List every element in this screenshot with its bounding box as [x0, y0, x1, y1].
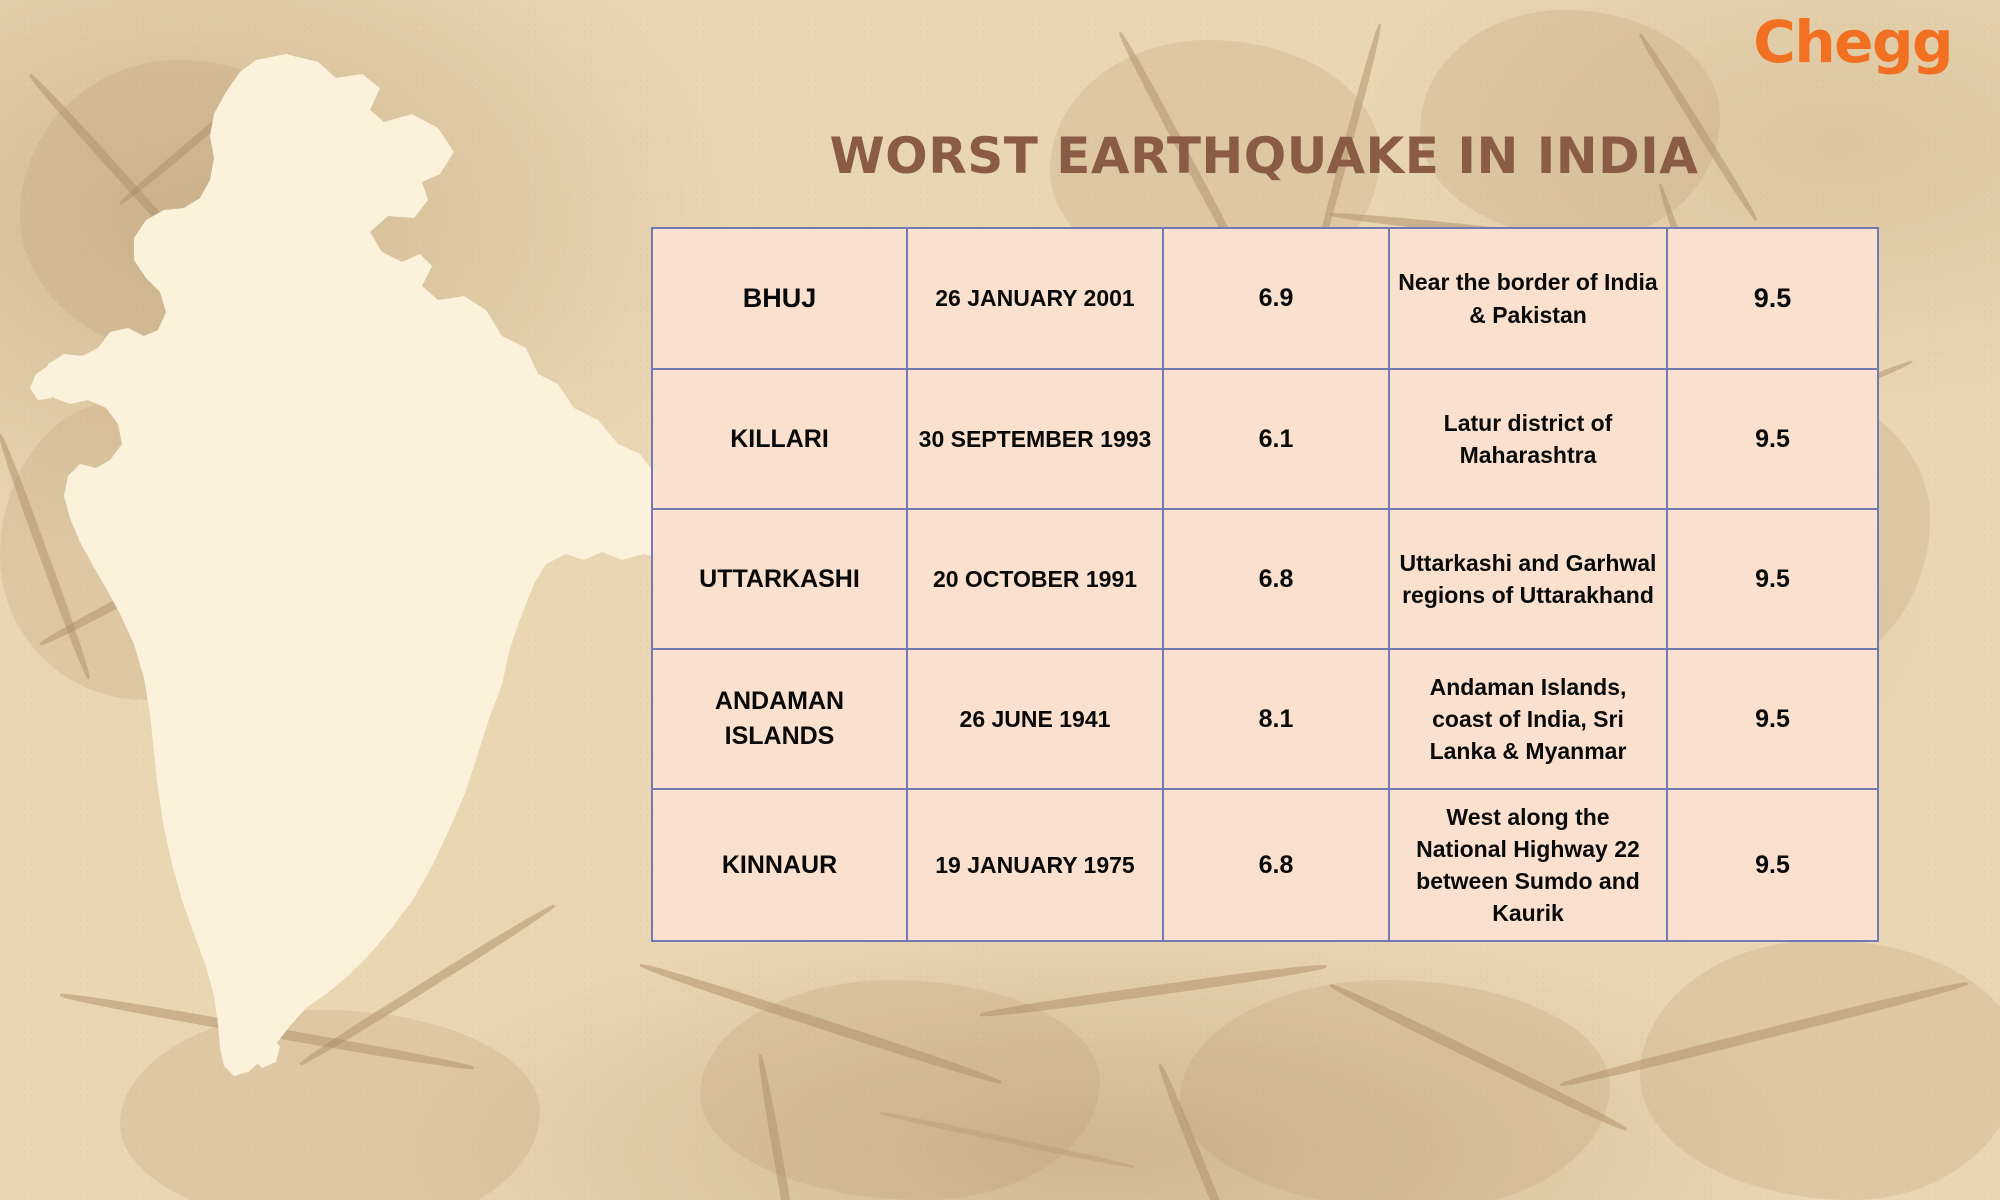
cell-place: KINNAUR: [652, 789, 907, 941]
earthquake-table-body: BHUJ 26 JANUARY 2001 6.9 Near the border…: [652, 228, 1878, 941]
cell-intensity: 9.5: [1667, 509, 1878, 649]
table-row: ANDAMAN ISLANDS 26 JUNE 1941 8.1 Andaman…: [652, 649, 1878, 789]
cell-date: 26 JANUARY 2001: [907, 228, 1163, 369]
cell-area: Uttarkashi and Garhwal regions of Uttara…: [1389, 509, 1667, 649]
cell-place: KILLARI: [652, 369, 907, 509]
cell-magnitude: 6.9: [1163, 228, 1389, 369]
cell-date: 20 OCTOBER 1991: [907, 509, 1163, 649]
cell-area: Andaman Islands, coast of India, Sri Lan…: [1389, 649, 1667, 789]
page-title: WORST EARTHQUAKE IN INDIA: [651, 127, 1877, 185]
chegg-logo[interactable]: Chegg: [1753, 8, 1952, 76]
table-row: KINNAUR 19 JANUARY 1975 6.8 West along t…: [652, 789, 1878, 941]
cell-magnitude: 6.8: [1163, 509, 1389, 649]
cell-date: 30 SEPTEMBER 1993: [907, 369, 1163, 509]
cell-intensity: 9.5: [1667, 228, 1878, 369]
cell-area: Near the border of India & Pakistan: [1389, 228, 1667, 369]
cell-place: UTTARKASHI: [652, 509, 907, 649]
table-row: KILLARI 30 SEPTEMBER 1993 6.1 Latur dist…: [652, 369, 1878, 509]
cell-magnitude: 6.8: [1163, 789, 1389, 941]
table-row: UTTARKASHI 20 OCTOBER 1991 6.8 Uttarkash…: [652, 509, 1878, 649]
cell-place: BHUJ: [652, 228, 907, 369]
cell-intensity: 9.5: [1667, 789, 1878, 941]
india-map-silhouette: [18, 48, 698, 1083]
cell-area: West along the National Highway 22 betwe…: [1389, 789, 1667, 941]
cell-magnitude: 8.1: [1163, 649, 1389, 789]
cell-area: Latur district of Maharashtra: [1389, 369, 1667, 509]
cell-date: 26 JUNE 1941: [907, 649, 1163, 789]
cell-intensity: 9.5: [1667, 649, 1878, 789]
earthquake-table: BHUJ 26 JANUARY 2001 6.9 Near the border…: [651, 227, 1879, 942]
cell-magnitude: 6.1: [1163, 369, 1389, 509]
cell-date: 19 JANUARY 1975: [907, 789, 1163, 941]
cell-place: ANDAMAN ISLANDS: [652, 649, 907, 789]
cell-intensity: 9.5: [1667, 369, 1878, 509]
table-row: BHUJ 26 JANUARY 2001 6.9 Near the border…: [652, 228, 1878, 369]
